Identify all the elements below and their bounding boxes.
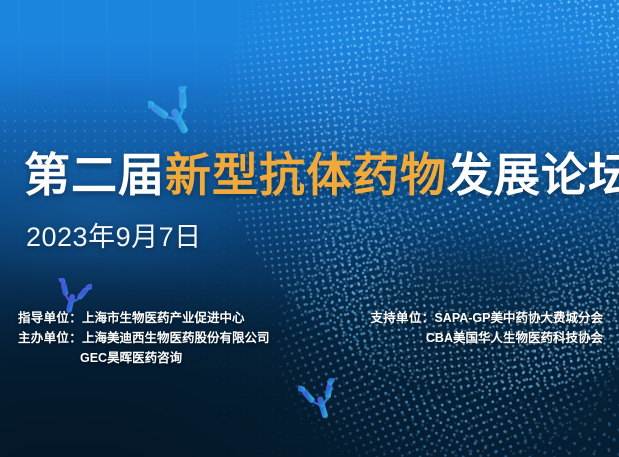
conference-banner-poster: 第二届新型抗体药物发展论坛 2023年9月7日 指导单位：上海市生物医药产业促进… xyxy=(0,0,619,457)
credit-line: GEC昊晖医药咨询 xyxy=(18,348,270,368)
poster-headline: 第二届新型抗体药物发展论坛 xyxy=(24,152,619,198)
credit-value: GEC昊晖医药咨询 xyxy=(80,351,182,365)
credit-line: CBA美国华人生物医药科技协会 xyxy=(370,328,603,348)
headline-suffix: 发展论坛 xyxy=(447,149,619,201)
credit-label: 支持单位： xyxy=(370,311,434,325)
poster-content: 第二届新型抗体药物发展论坛 2023年9月7日 指导单位：上海市生物医药产业促进… xyxy=(0,0,619,457)
credit-line: 主办单位：上海美迪西生物医药股份有限公司 xyxy=(18,328,270,348)
credit-line: 指导单位：上海市生物医药产业促进中心 xyxy=(18,308,270,328)
credit-label: 主办单位： xyxy=(18,331,82,345)
credit-value: 上海美迪西生物医药股份有限公司 xyxy=(82,331,270,345)
headline-prefix: 第二届 xyxy=(24,149,165,201)
headline-highlight: 新型抗体药物 xyxy=(165,149,447,201)
credits-right-column: 支持单位：SAPA-GP美中药协大费城分会 CBA美国华人生物医药科技协会 xyxy=(370,308,603,348)
credit-value: SAPA-GP美中药协大费城分会 xyxy=(434,311,603,325)
credit-label: 指导单位： xyxy=(18,311,82,325)
credit-line: 支持单位：SAPA-GP美中药协大费城分会 xyxy=(370,308,603,328)
credits-left-column: 指导单位：上海市生物医药产业促进中心 主办单位：上海美迪西生物医药股份有限公司 … xyxy=(18,308,270,368)
credits-section: 指导单位：上海市生物医药产业促进中心 主办单位：上海美迪西生物医药股份有限公司 … xyxy=(0,308,619,388)
event-date: 2023年9月7日 xyxy=(26,215,202,254)
credit-value: 上海市生物医药产业促进中心 xyxy=(82,311,245,325)
credit-value: CBA美国华人生物医药科技协会 xyxy=(426,331,603,345)
